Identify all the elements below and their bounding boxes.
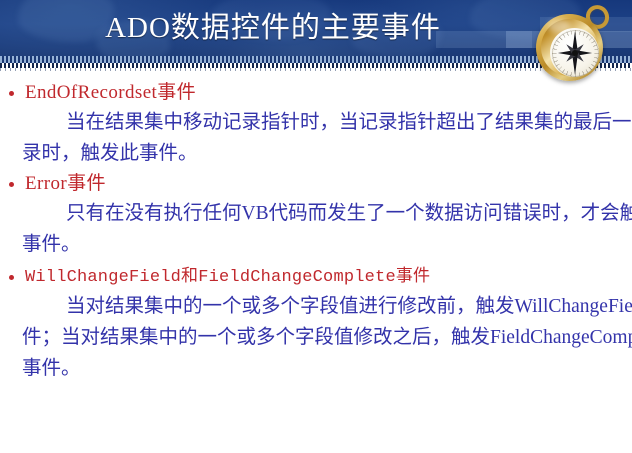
presentation-slide: ADO数据控件的主要事件 xyxy=(0,0,632,453)
bullet-dot-icon xyxy=(9,91,14,96)
bullet-block-error: Error事件 只有在没有执行任何VB代码而发生了一个数据访问错误时，才会触发此… xyxy=(0,171,632,260)
compass-face xyxy=(550,28,599,77)
bullet-dot-icon xyxy=(9,182,14,187)
bullet-block-endofrecordset: EndOfRecordset事件 当在结果集中移动记录指针时，当记录指针超出了结… xyxy=(0,80,632,169)
bullet-dot-icon xyxy=(9,275,14,280)
bullet-heading-error: Error事件 xyxy=(25,173,106,194)
slide-body: EndOfRecordset事件 当在结果集中移动记录指针时，当记录指针超出了结… xyxy=(0,80,632,384)
bullet-heading-row: Error事件 xyxy=(0,171,632,198)
bullet-body-willchangefield: 当对结果集中的一个或多个字段值进行修改前，触发WillChangeField事件… xyxy=(0,291,632,384)
compass-bezel xyxy=(541,19,598,76)
bullet-heading-row: EndOfRecordset事件 xyxy=(0,80,632,107)
compass-needle-hub xyxy=(572,50,578,56)
bullet-body-endofrecordset: 当在结果集中移动记录指针时，当记录指针超出了结果集的最后一条记录时，触发此事件。 xyxy=(0,107,632,169)
bullet-heading-row: WillChangeField和FieldChangeComplete事件 xyxy=(0,264,632,291)
bullet-body-error: 只有在没有执行任何VB代码而发生了一个数据访问错误时，才会触发此事件。 xyxy=(0,198,632,260)
compass-icon xyxy=(536,11,606,81)
bullet-heading-willchangefield: WillChangeField和FieldChangeComplete事件 xyxy=(25,268,430,287)
bullet-heading-endofrecordset: EndOfRecordset事件 xyxy=(25,82,196,103)
compass-case xyxy=(536,14,603,81)
bullet-block-willchangefield: WillChangeField和FieldChangeComplete事件 当对… xyxy=(0,264,632,384)
